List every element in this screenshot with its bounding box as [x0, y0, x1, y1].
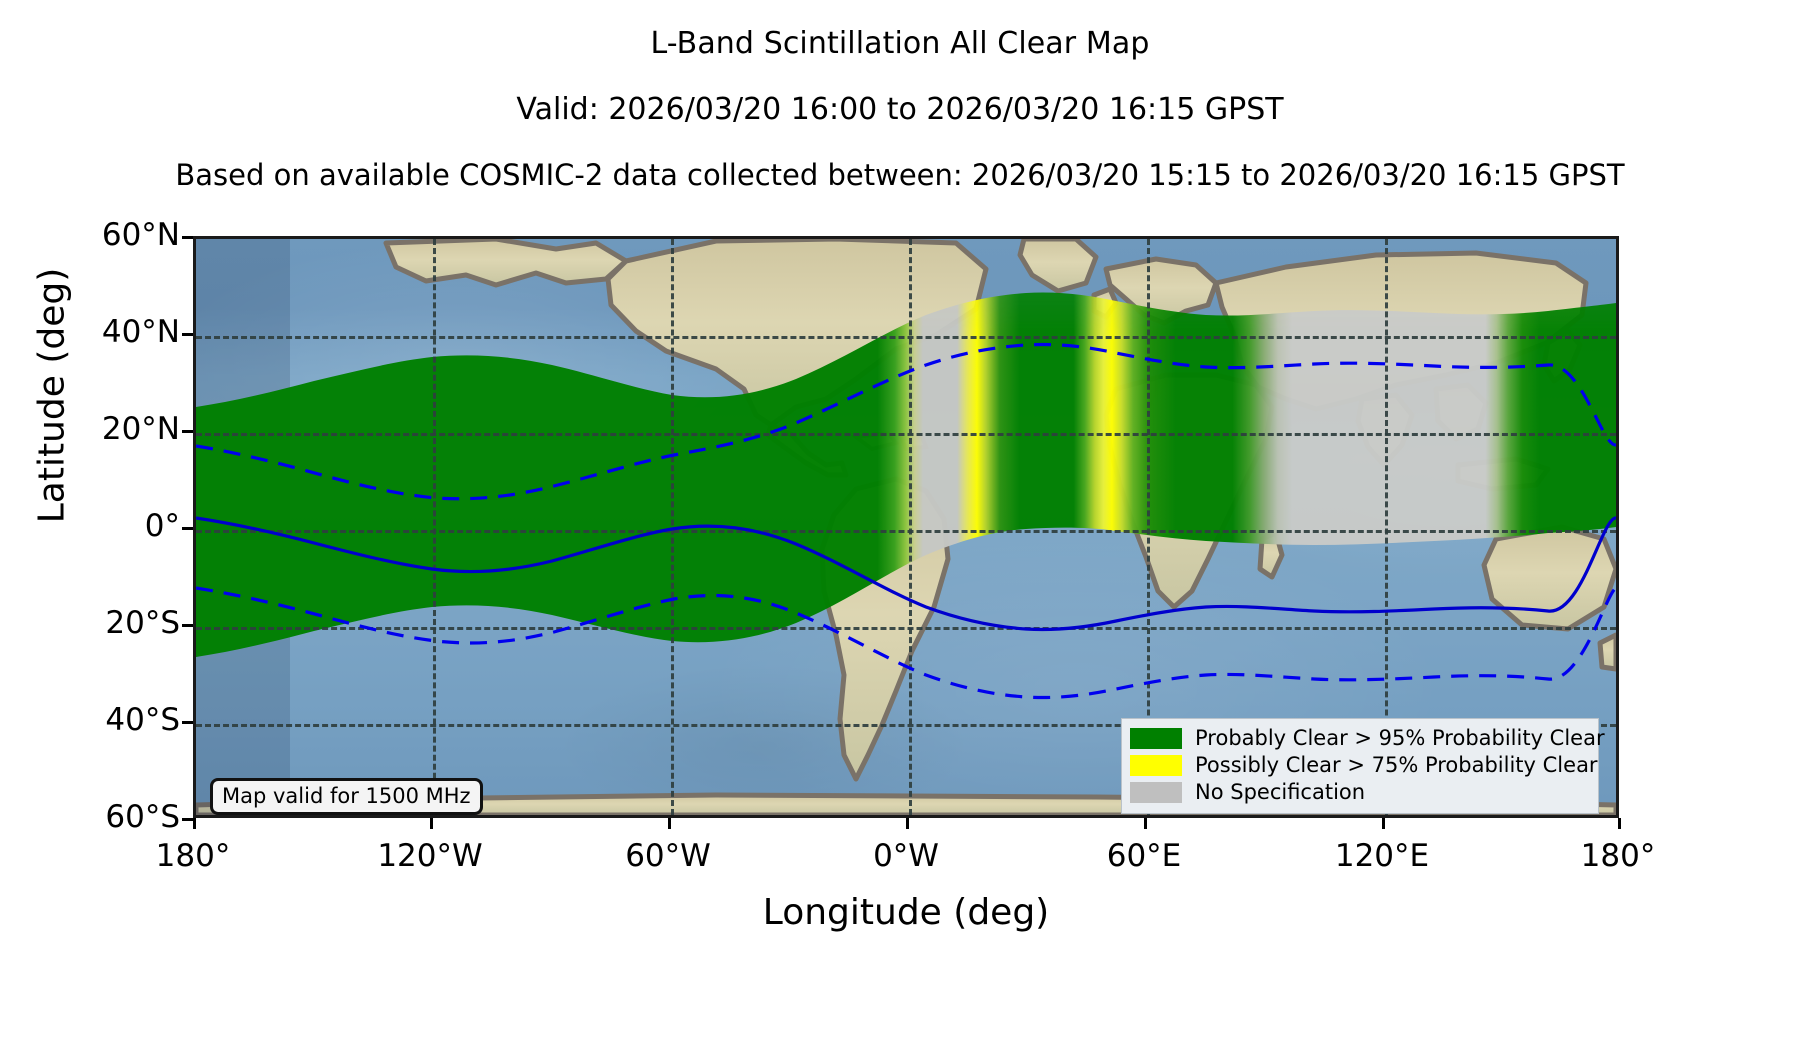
tick-label-lon-60e: 60°E — [1014, 838, 1274, 874]
valid-time-subtitle: Valid: 2026/03/20 16:00 to 2026/03/20 16… — [0, 92, 1800, 127]
tick-label-lat-60n: 60°N — [0, 217, 180, 253]
legend-swatch-possibly-clear — [1130, 755, 1182, 776]
legend-item[interactable]: Probably Clear > 95% Probability Clear — [1130, 725, 1590, 752]
tick-mark-y — [182, 527, 193, 530]
map-plot-area[interactable]: Probably Clear > 95% Probability Clear P… — [193, 236, 1619, 818]
tick-label-lon-180e: 180° — [1488, 838, 1748, 874]
tick-label-lon-180w: 180° — [63, 838, 323, 874]
tick-mark-x — [906, 818, 909, 829]
tick-label-lat-40s: 40°S — [0, 702, 180, 738]
map-legend[interactable]: Probably Clear > 95% Probability Clear P… — [1121, 718, 1599, 814]
tick-mark-y — [182, 333, 193, 336]
tick-mark-x — [430, 818, 433, 829]
legend-label: Possibly Clear > 75% Probability Clear — [1195, 755, 1598, 776]
tick-mark-y — [182, 430, 193, 433]
x-axis-label: Longitude (deg) — [193, 892, 1619, 933]
dip-south-line-main — [196, 588, 1616, 698]
legend-swatch-no-specification — [1130, 782, 1182, 803]
legend-swatch-probably-clear — [1130, 728, 1182, 749]
tick-mark-x — [1618, 818, 1621, 829]
page-title: L-Band Scintillation All Clear Map — [0, 26, 1800, 61]
tick-mark-x — [1382, 818, 1385, 829]
tick-mark-x — [193, 818, 196, 829]
tick-mark-y — [182, 624, 193, 627]
frequency-annotation: Map valid for 1500 MHz — [210, 778, 483, 815]
tick-mark-y — [182, 721, 193, 724]
tick-label-lon-120e: 120°E — [1252, 838, 1512, 874]
tick-label-lon-0: 0°W — [776, 838, 1036, 874]
legend-label: No Specification — [1195, 782, 1365, 803]
tick-label-lon-60w: 60°W — [538, 838, 798, 874]
data-source-subtitle: Based on available COSMIC-2 data collect… — [0, 158, 1800, 192]
tick-mark-y — [182, 818, 193, 821]
tick-label-lat-0: 0° — [0, 508, 180, 544]
dip-equator-line — [196, 518, 1616, 630]
legend-label: Probably Clear > 95% Probability Clear — [1195, 728, 1605, 749]
tick-label-lat-20s: 20°S — [0, 605, 180, 641]
tick-mark-x — [668, 818, 671, 829]
legend-item[interactable]: Possibly Clear > 75% Probability Clear — [1130, 752, 1590, 779]
tick-label-lat-40n: 40°N — [0, 314, 180, 350]
tick-label-lon-120w: 120°W — [300, 838, 560, 874]
tick-label-lat-60s: 60°S — [0, 799, 180, 835]
tick-mark-y — [182, 236, 193, 239]
legend-item[interactable]: No Specification — [1130, 779, 1590, 806]
tick-label-lat-20n: 20°N — [0, 411, 180, 447]
dip-north-line-main — [196, 344, 1616, 498]
tick-mark-x — [1144, 818, 1147, 829]
